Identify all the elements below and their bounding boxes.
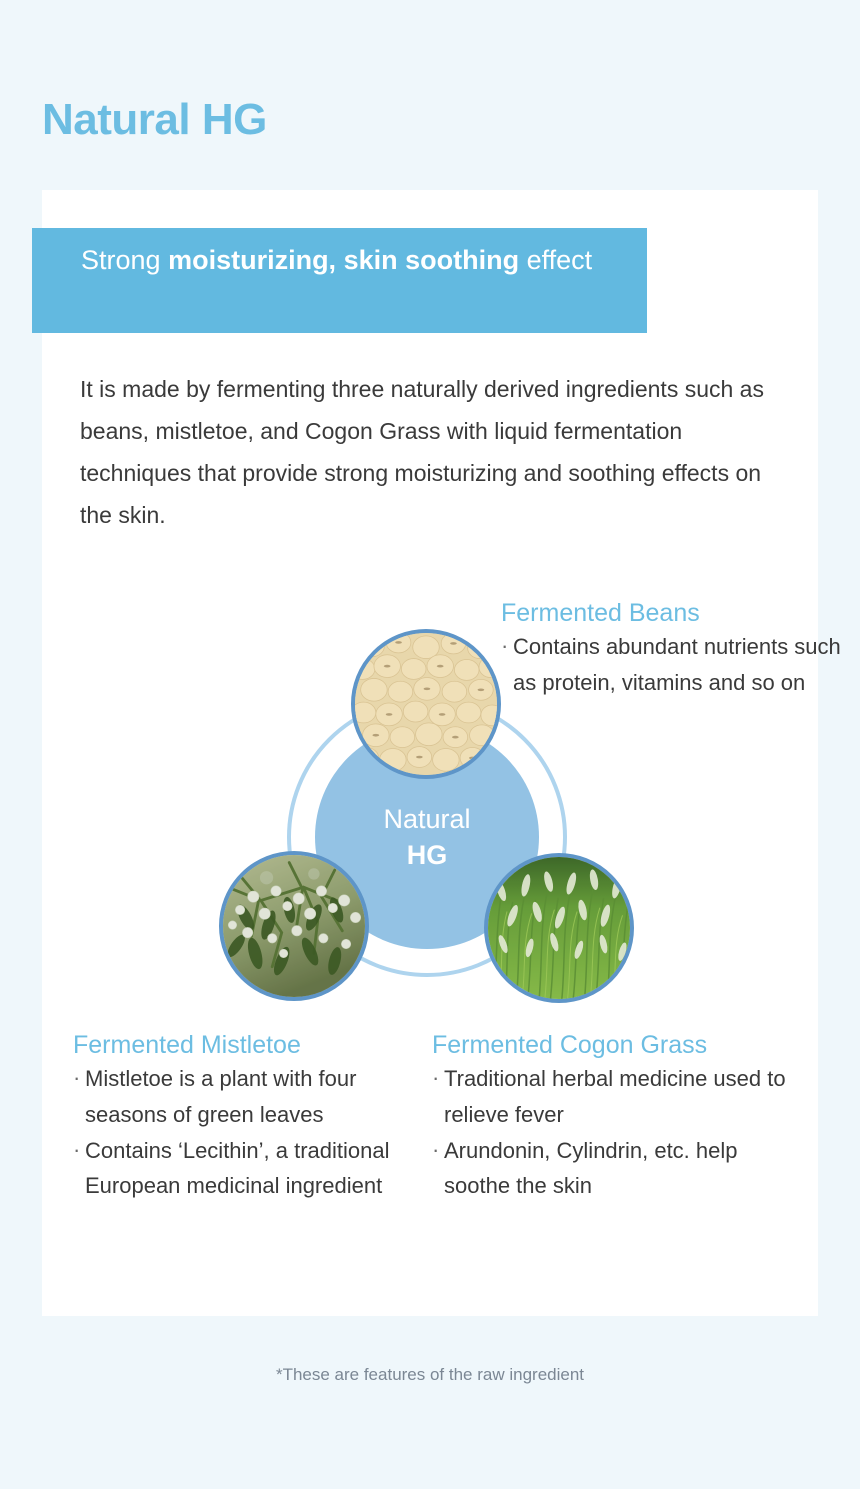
ingredient-bullets-grass: Traditional herbal medicine used to reli… (432, 1061, 802, 1204)
headline-lead: Strong (81, 245, 168, 275)
list-item: Traditional herbal medicine used to reli… (432, 1061, 802, 1132)
list-item: Contains ‘Lecithin’, a traditional Europ… (73, 1133, 423, 1204)
ingredient-block-grass: Fermented Cogon Grass Traditional herbal… (432, 1030, 802, 1204)
fermented-cogon-grass-photo (484, 853, 634, 1003)
cogon-grass-image (488, 857, 630, 999)
list-item: Arundonin, Cylindrin, etc. help soothe t… (432, 1133, 802, 1204)
ingredient-block-beans: Fermented Beans Contains abundant nutrie… (501, 598, 846, 701)
list-item: Contains abundant nutrients such as prot… (501, 629, 846, 700)
headline-tail: effect (519, 245, 592, 275)
fermented-mistletoe-photo (219, 851, 369, 1001)
list-item: Mistletoe is a plant with four seasons o… (73, 1061, 423, 1132)
core-label-line2: HG (407, 840, 448, 870)
ingredient-bullets-beans: Contains abundant nutrients such as prot… (501, 629, 846, 700)
core-label-line1: Natural (383, 804, 470, 834)
ingredient-block-mistletoe: Fermented Mistletoe Mistletoe is a plant… (73, 1030, 423, 1204)
headline-emphasis: moisturizing, skin soothing (168, 245, 519, 275)
page-title: Natural HG (42, 96, 267, 144)
headline-banner: Strong moisturizing, skin soothing effec… (32, 228, 647, 333)
intro-paragraph: It is made by fermenting three naturally… (80, 368, 790, 536)
fermented-beans-photo (351, 629, 501, 779)
mistletoe-image (223, 855, 365, 997)
ingredient-title-grass: Fermented Cogon Grass (432, 1030, 802, 1061)
ingredient-bullets-mistletoe: Mistletoe is a plant with four seasons o… (73, 1061, 423, 1204)
soybeans-image (355, 633, 497, 775)
footnote: *These are features of the raw ingredien… (0, 1365, 860, 1385)
ingredient-title-mistletoe: Fermented Mistletoe (73, 1030, 423, 1061)
ingredient-title-beans: Fermented Beans (501, 598, 846, 629)
